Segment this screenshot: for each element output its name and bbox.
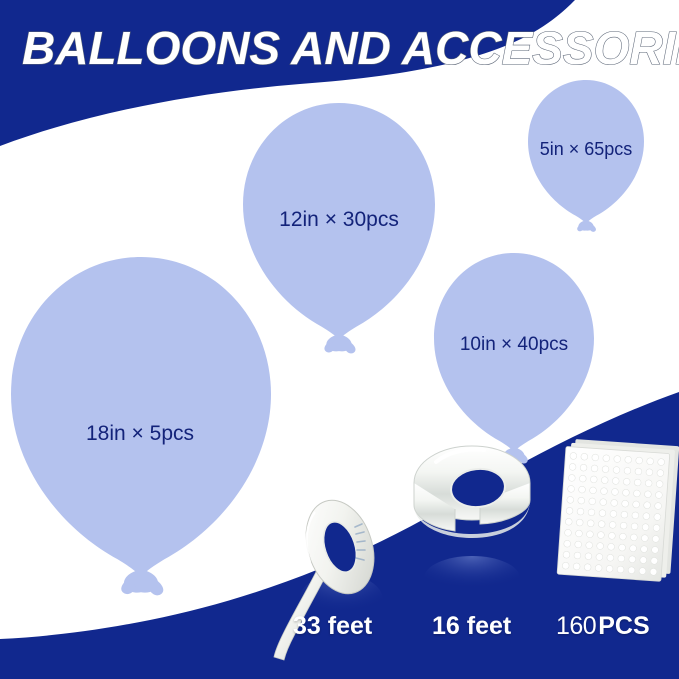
product-infographic: 18in × 5pcs 12in × 30pcs 10in × 40pcs 5i… — [0, 0, 679, 679]
page-title-outline: BALLOONS AND ACCESSORIES — [22, 22, 679, 74]
title-layer: BALLOONS AND ACCESSORIES — [0, 0, 679, 679]
